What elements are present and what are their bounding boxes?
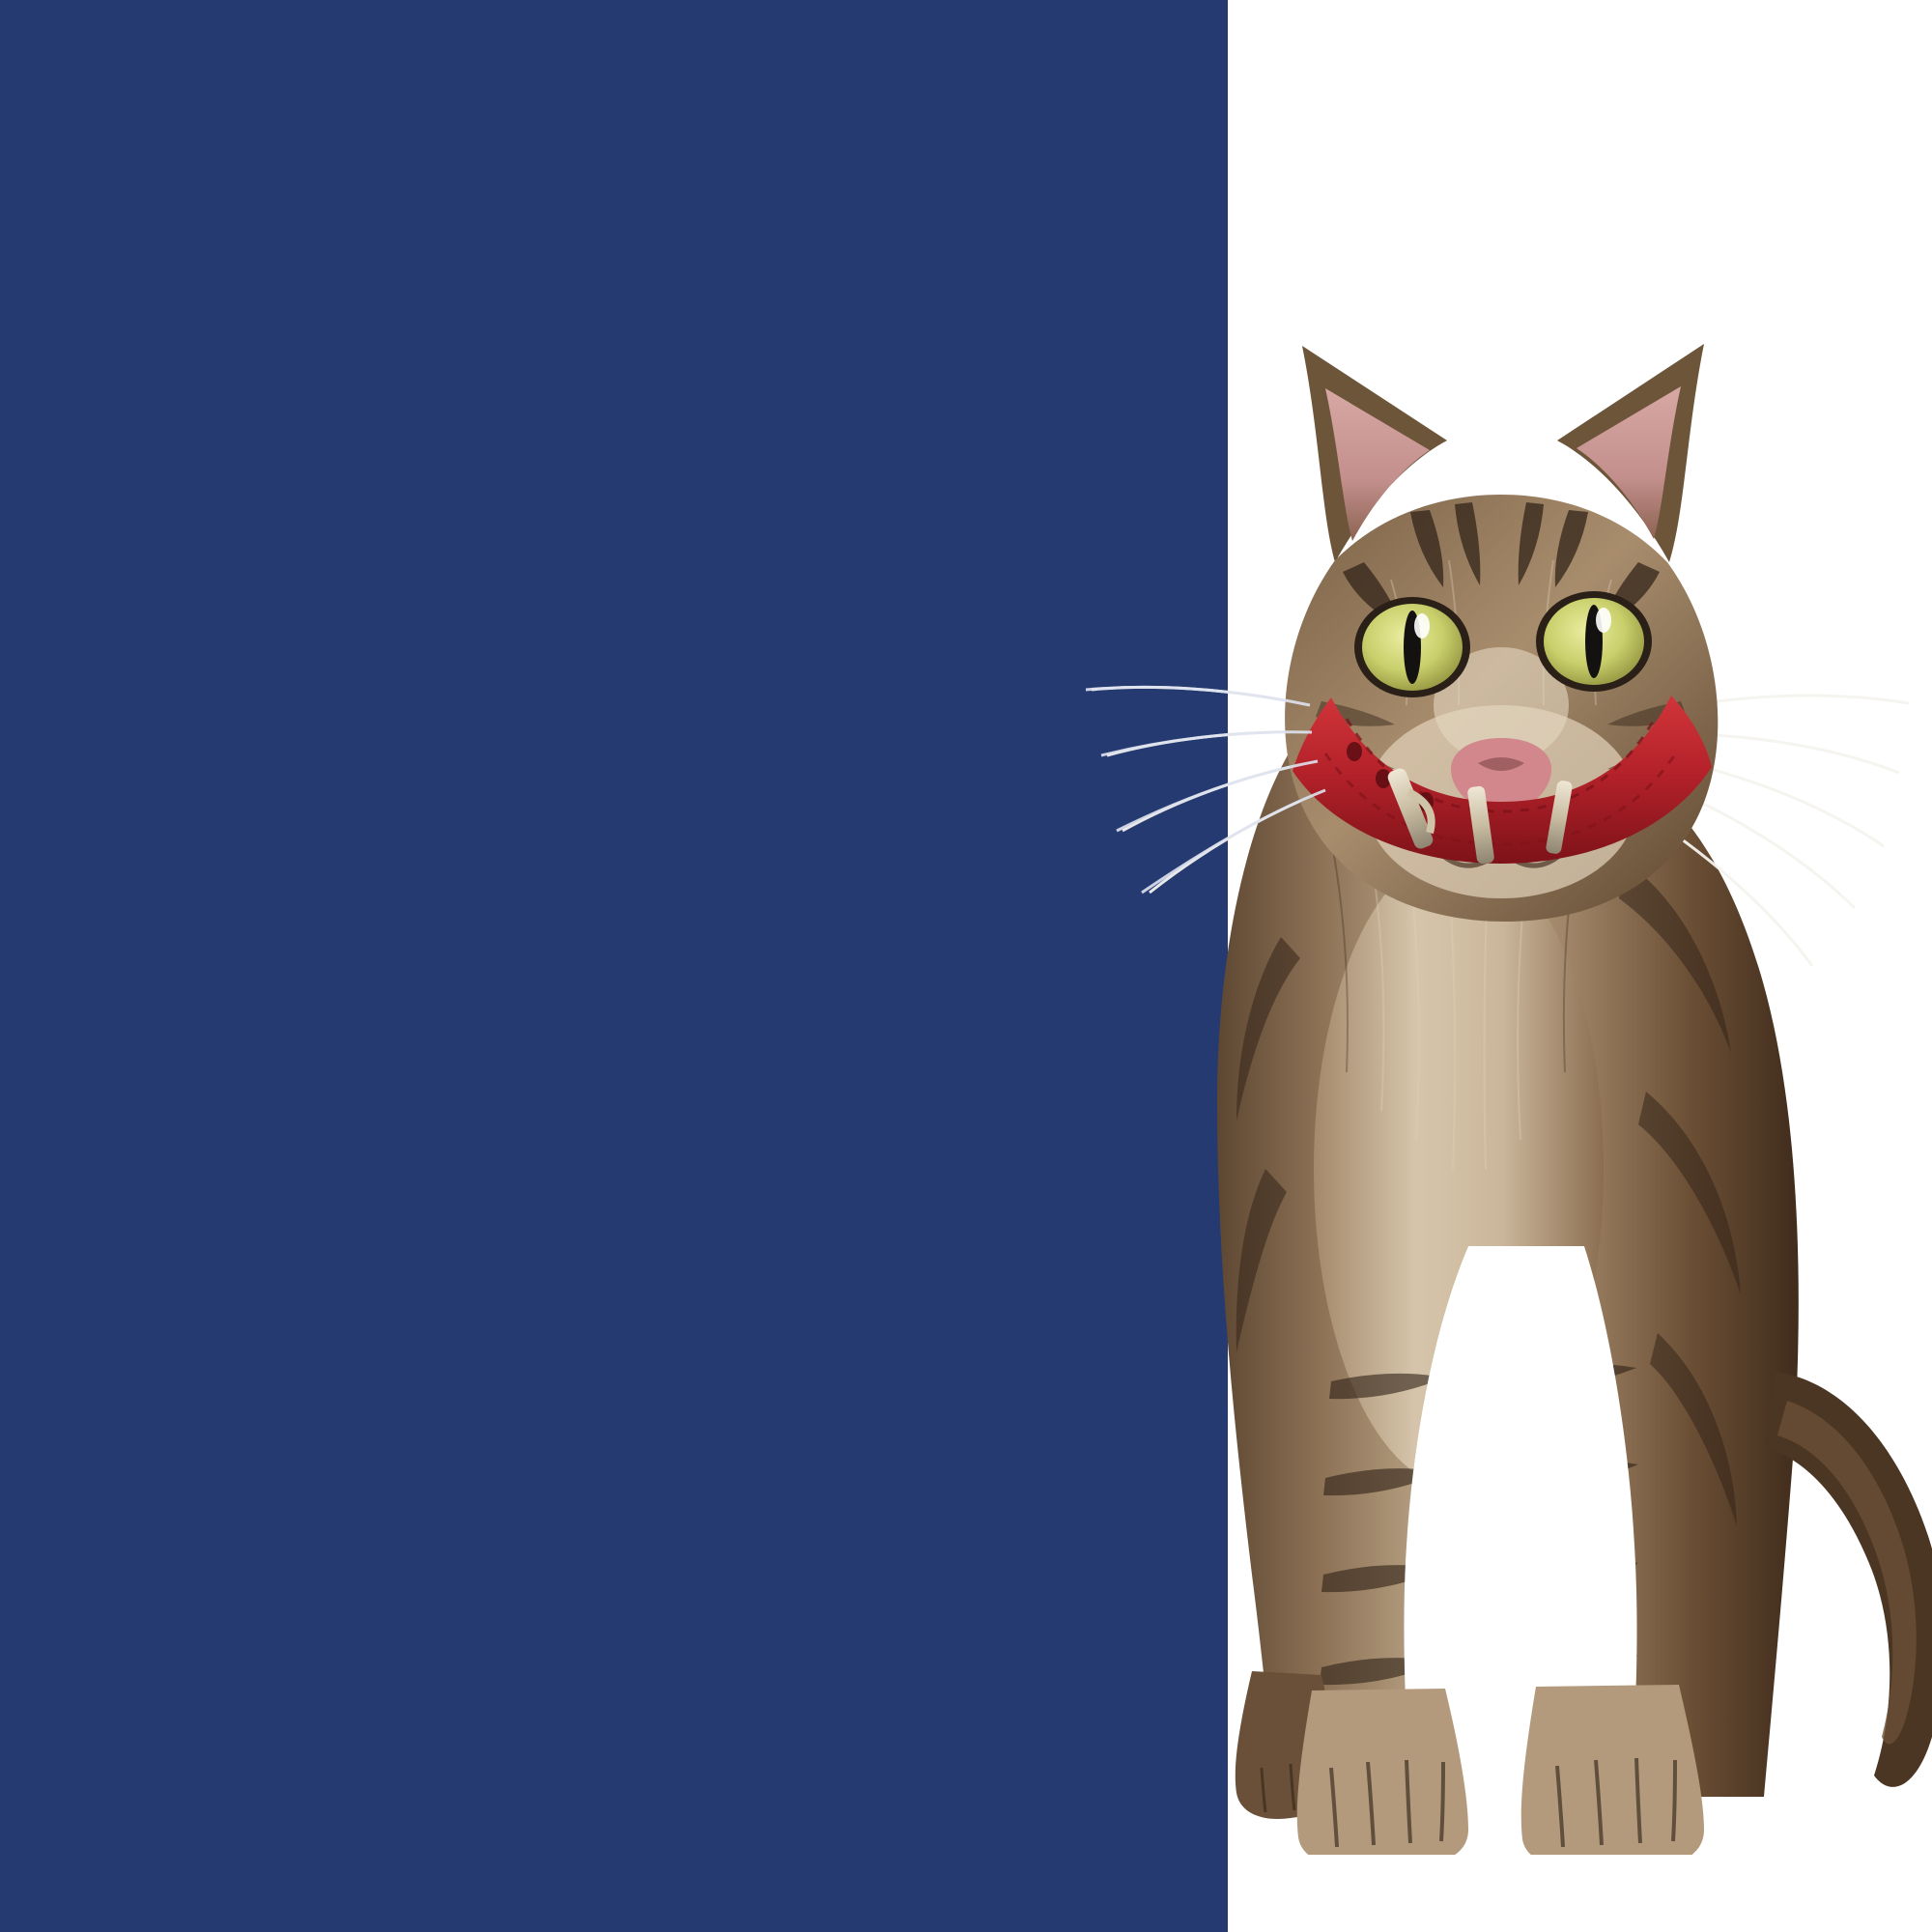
- cat-eye-right: [1536, 591, 1652, 692]
- cat-photo: [1082, 126, 1932, 1855]
- cat-tail: [1764, 1372, 1932, 1787]
- cat-eye-left: [1354, 597, 1470, 697]
- cat-front-paws: [1236, 1671, 1704, 1855]
- key-benefits-banner: KEY BENEFITS Healthy skin & fur with Ome…: [0, 0, 1932, 1932]
- blue-content-panel: [0, 0, 1228, 1932]
